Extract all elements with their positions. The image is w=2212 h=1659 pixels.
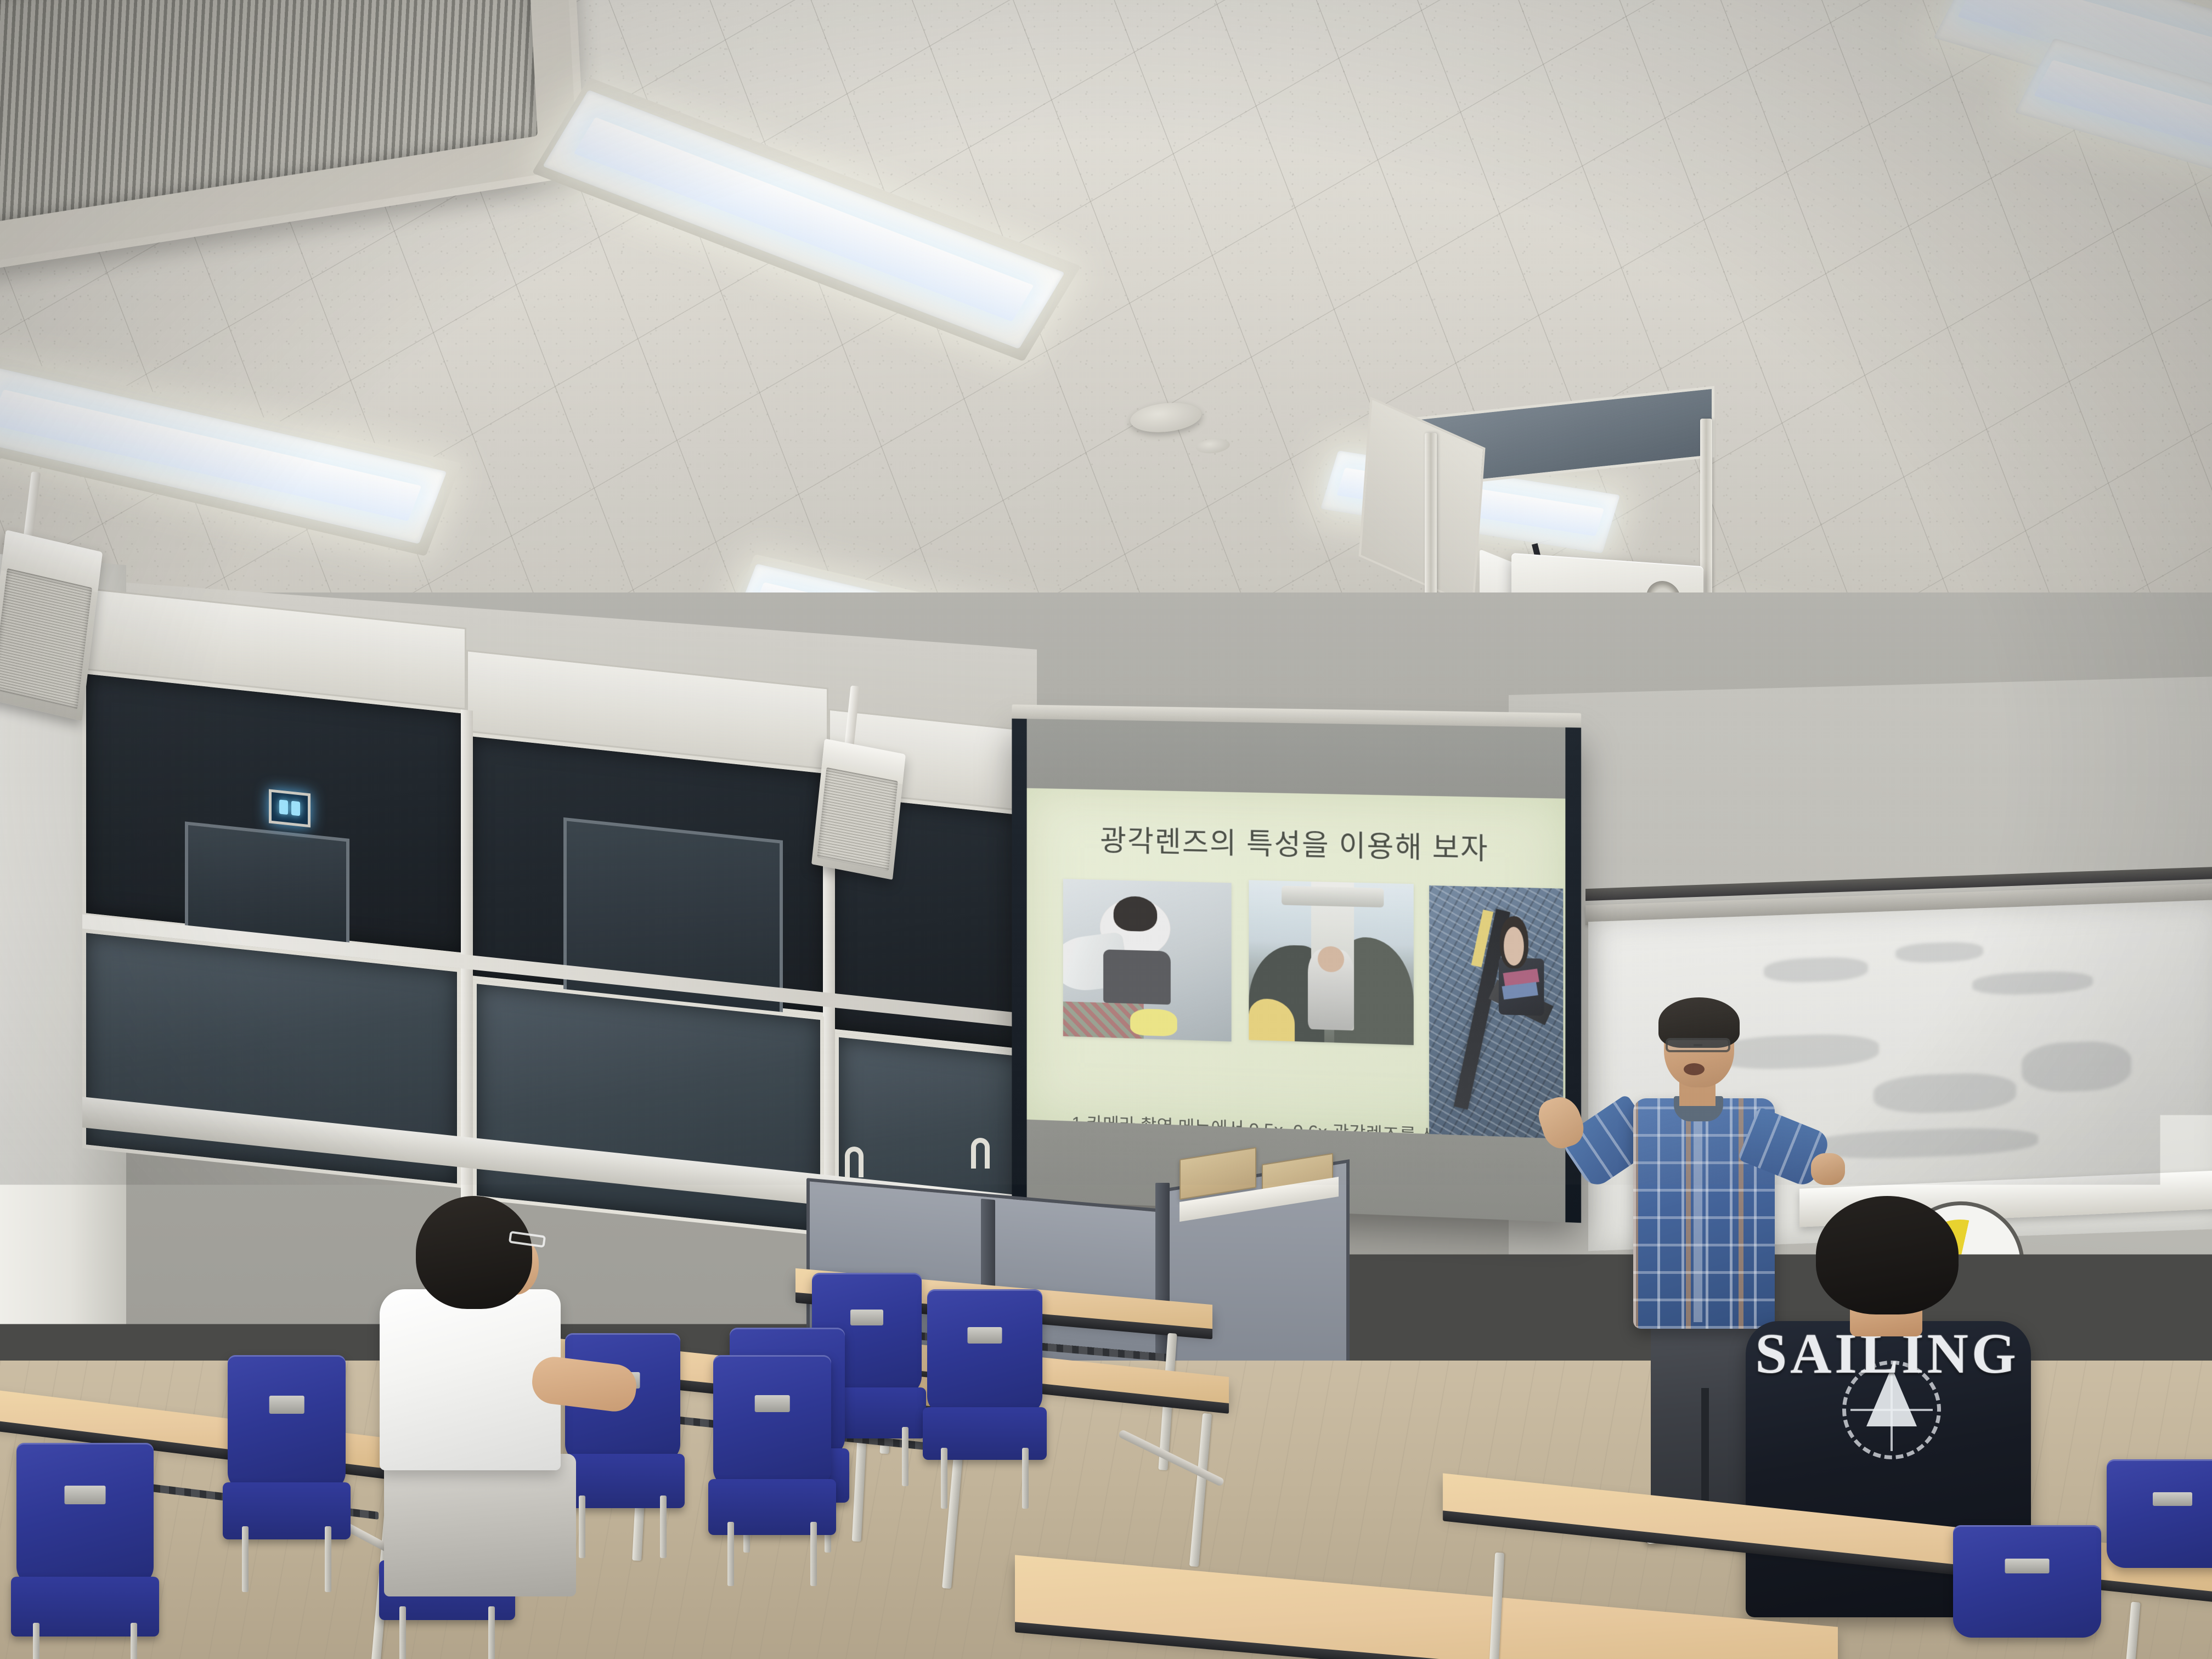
photo-1-yellow-shoe (1130, 1008, 1177, 1037)
whiteboard-erased-mark (1874, 1071, 2016, 1115)
cage-rail-left (1425, 433, 1437, 614)
ac-grille (0, 0, 538, 224)
booth-hook-1 (845, 1147, 864, 1177)
slide-photo-1 (1063, 879, 1232, 1041)
whiteboard-erased-mark (2022, 1040, 2131, 1093)
window-mullion-1 (461, 709, 473, 1259)
chair-leg (131, 1623, 137, 1659)
projection-screen: 광각렌즈의 특성을 이용해 보자 (1012, 719, 1581, 1223)
chair-back (1525, 1536, 1673, 1649)
slide-photo-2 (1249, 880, 1413, 1045)
chair-left-3[interactable] (228, 1355, 346, 1575)
chair-back (1706, 1470, 1843, 1587)
whiteboard-erased-mark (1895, 941, 1983, 964)
chair-leg (488, 1606, 495, 1659)
chair-back (2107, 1459, 2212, 1568)
whiteboard-erased-mark (1808, 1126, 2038, 1161)
instructor-right-hand (1811, 1153, 1845, 1185)
photo-2-statue-arms (1282, 885, 1384, 907)
student-left (351, 1196, 642, 1613)
whiteboard-erased-mark (1764, 956, 1868, 984)
student-left-hair (416, 1196, 532, 1309)
wall-speaker-2 (811, 738, 906, 879)
chair-back (16, 1443, 154, 1585)
chair-leg (242, 1526, 249, 1592)
chair-left-2[interactable] (713, 1355, 831, 1569)
student-right-hair (1816, 1196, 1959, 1314)
chair-mid-2[interactable] (927, 1289, 1042, 1492)
chair-left-5[interactable] (16, 1443, 154, 1659)
chair-leg (727, 1522, 734, 1586)
screen-surface: 광각렌즈의 특성을 이용해 보자 (1027, 719, 1566, 1222)
chair-seat (1701, 1580, 1849, 1629)
chair-leg (902, 1427, 909, 1486)
chair-leg (1022, 1448, 1029, 1509)
slide-title: 광각렌즈의 특성을 이용해 보자 (1048, 817, 1543, 870)
chair-leg (660, 1496, 667, 1558)
chair-front-right-2[interactable] (1525, 1536, 1673, 1659)
student-left-sweatpants (384, 1454, 576, 1596)
screen-border-left (1012, 719, 1026, 1201)
chair-leg (810, 1522, 817, 1586)
exit-glyph-left (279, 800, 288, 815)
booth-hook-2 (971, 1138, 990, 1169)
instructor-glasses-icon (1666, 1038, 1730, 1052)
projected-slide: 광각렌즈의 특성을 이용해 보자 (1027, 788, 1566, 1139)
speaker-grille (817, 767, 898, 871)
screen-unlit-top (1027, 719, 1566, 798)
chair-leg (399, 1606, 406, 1659)
speaker-grille (0, 568, 92, 709)
chair-back (228, 1355, 346, 1491)
chair-front-right-3[interactable] (1953, 1525, 2101, 1659)
wall-access-box (1487, 1274, 1591, 1344)
whiteboard-erased-mark (1972, 970, 2093, 996)
chair-back (713, 1355, 831, 1488)
emergency-exit-sign-icon (269, 789, 311, 827)
chair-leg (33, 1623, 39, 1659)
instructor-mouth (1684, 1063, 1705, 1075)
photo-1-hair (1113, 896, 1157, 932)
chair-leg (941, 1448, 947, 1509)
chair-back (927, 1289, 1042, 1415)
classroom-photo: 광각렌즈의 특성을 이용해 보자 (0, 0, 2212, 1659)
photo-2-face (1318, 946, 1344, 972)
chair-front-right-4[interactable] (2107, 1459, 2212, 1635)
chair-back (1953, 1525, 2101, 1638)
photo-1-shirt (1103, 949, 1171, 1005)
chair-front-right-1[interactable] (1706, 1470, 1843, 1659)
chair-leg (325, 1526, 331, 1592)
instructor-shirt-placket (1694, 1103, 1702, 1322)
exit-glyph-right (291, 801, 300, 816)
slide-photo-row (1048, 878, 1543, 1074)
